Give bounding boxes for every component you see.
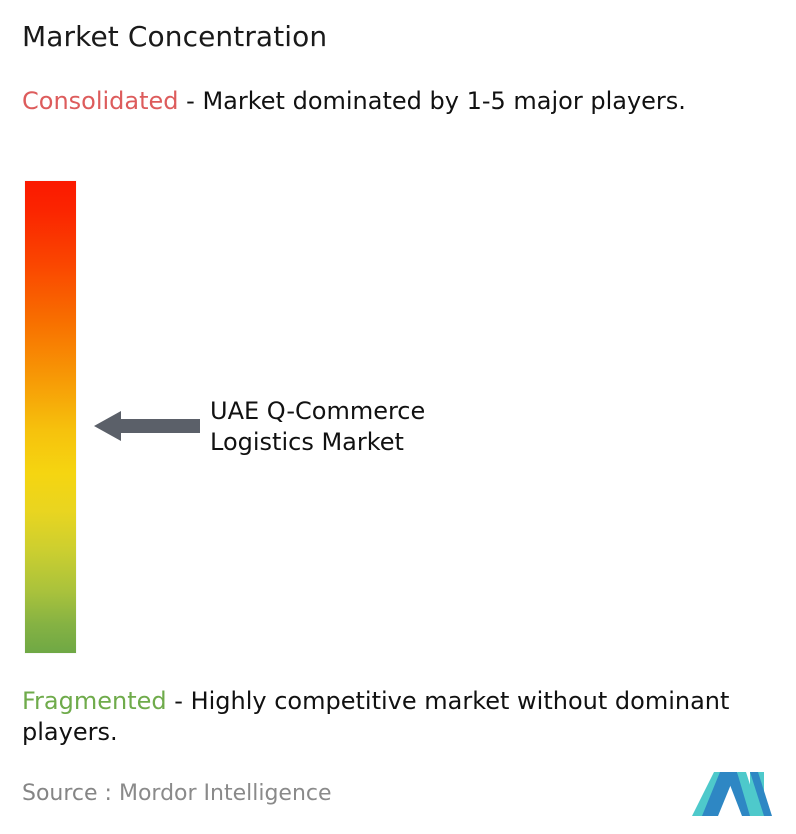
legend-consolidated: Consolidated - Market dominated by 1-5 m…: [22, 86, 782, 117]
legend-consolidated-term: Consolidated: [22, 87, 179, 115]
source-attribution: Source : Mordor Intelligence: [22, 780, 332, 808]
market-concentration-chart: Market Concentration Consolidated - Mark…: [0, 0, 796, 834]
legend-fragmented-term: Fragmented: [22, 687, 167, 715]
source-value: Mordor Intelligence: [119, 781, 332, 806]
market-pointer-label: UAE Q-Commerce Logistics Market: [210, 396, 500, 458]
mordor-intelligence-logo: [692, 770, 780, 816]
gradient-scale-bar: [25, 181, 76, 653]
page-title: Market Concentration: [22, 20, 327, 54]
legend-consolidated-description: - Market dominated by 1-5 major players.: [186, 87, 686, 115]
market-pointer: UAE Q-Commerce Logistics Market: [94, 396, 494, 466]
market-pointer-label-line2: Logistics Market: [210, 427, 500, 458]
arrow-left-icon: [94, 409, 200, 443]
source-label: Source :: [22, 781, 112, 806]
legend-fragmented: Fragmented - Highly competitive market w…: [22, 686, 790, 748]
market-pointer-label-line1: UAE Q-Commerce: [210, 396, 500, 427]
